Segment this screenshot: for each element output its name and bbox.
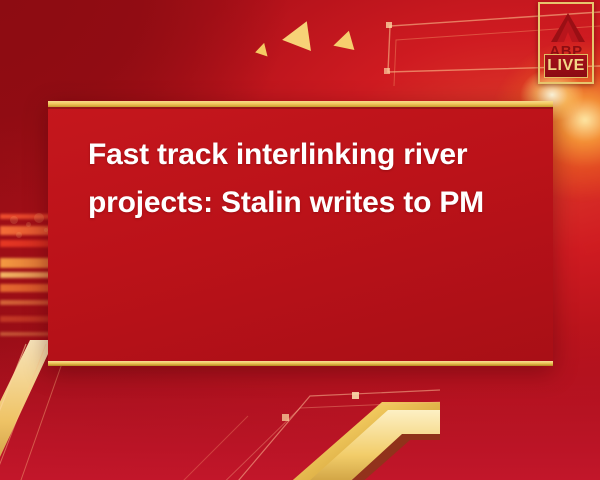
- logo-live-badge: LIVE: [544, 54, 588, 78]
- headline-card: Fast track interlinking river projects: …: [48, 101, 553, 366]
- abp-live-logo[interactable]: ABP LIVE: [538, 2, 594, 84]
- headline-card-top-border: [48, 101, 553, 107]
- headline-card-bottom-border: [48, 361, 553, 366]
- headline-title: Fast track interlinking river projects: …: [88, 131, 518, 227]
- news-graphic: Fast track interlinking river projects: …: [0, 0, 600, 480]
- gold-triangle-large-center: [280, 21, 311, 54]
